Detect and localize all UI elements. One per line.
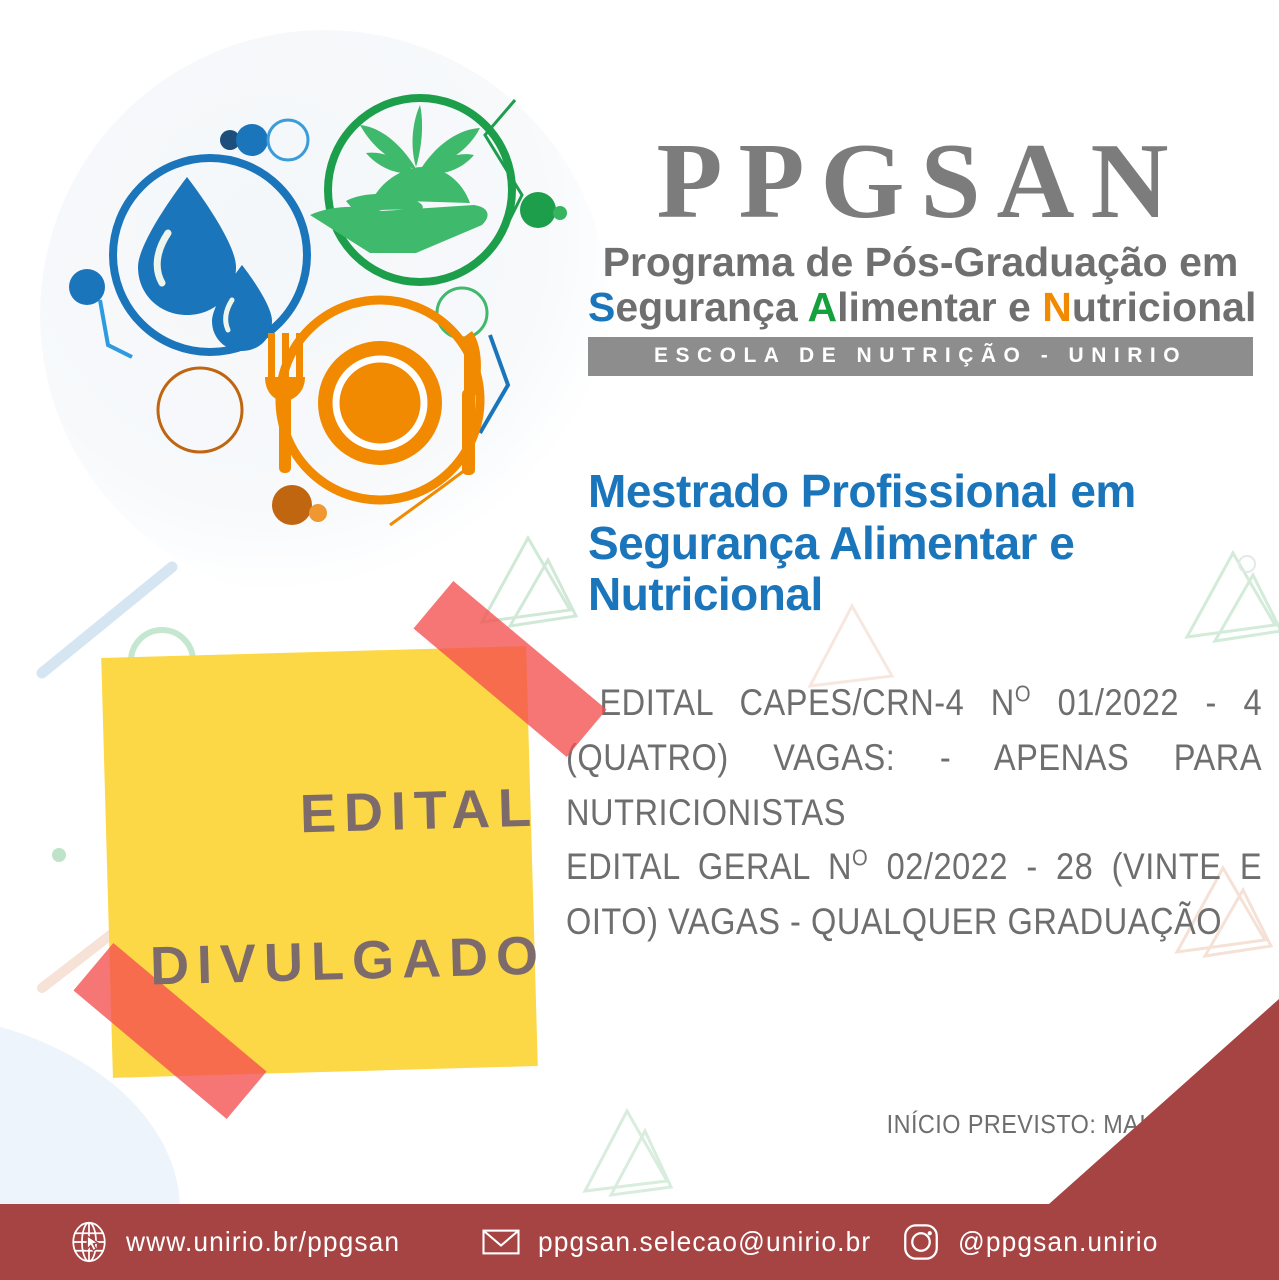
poster-canvas: PPGSAN Programa de Pós-Graduação em Segu… <box>0 0 1279 1280</box>
instagram-icon <box>900 1221 942 1263</box>
edital-paragraph-capes: EDITAL CAPES/CRN-4 NO 01/2022 - 4 (QUATR… <box>566 676 1262 840</box>
course-title: Mestrado Profissional em Segurança Alime… <box>588 466 1278 621</box>
footer-instagram-item[interactable]: @ppgsan.unirio <box>900 1204 1171 1280</box>
footer-email-label: ppgsan.selecao@unirio.br <box>538 1226 871 1258</box>
sticky-note-line1: EDITAL <box>299 777 540 846</box>
brand-acronym: PPGSAN <box>588 128 1253 236</box>
edital-capes-pre: EDITAL CAPES/CRN-4 N <box>599 682 1014 723</box>
sticky-note-line2: DIVULGADO <box>149 924 547 997</box>
brand-letter-a: A <box>808 284 838 330</box>
brand-subtitle-line2: Segurança Alimentar e Nutricional <box>588 285 1253 330</box>
deco-green-dot <box>52 848 66 862</box>
edital-text-block: EDITAL CAPES/CRN-4 NO 01/2022 - 4 (QUATR… <box>566 676 1266 950</box>
brand-word-nutricional: utricional <box>1072 284 1257 330</box>
globe-cursor-icon <box>68 1221 110 1263</box>
footer-instagram-label: @ppgsan.unirio <box>958 1226 1159 1258</box>
footer-bar: www.unirio.br/ppgsan ppgsan.selecao@unir… <box>0 1204 1279 1280</box>
edital-capes-ordinal: O <box>1015 681 1031 707</box>
edital-paragraph-geral: EDITAL GERAL NO 02/2022 - 28 (VINTE E OI… <box>566 840 1262 950</box>
brand-letter-s: S <box>588 284 615 330</box>
brand-subtitle-line1: Programa de Pós-Graduação em <box>588 240 1253 285</box>
plant-in-hand-icon <box>310 98 512 282</box>
edital-geral-pre: EDITAL GERAL N <box>566 846 852 887</box>
footer-website-label: www.unirio.br/ppgsan <box>126 1226 400 1258</box>
edital-geral-ordinal: O <box>852 845 868 871</box>
brand-word-alimentar: limentar e <box>837 284 1042 330</box>
footer-website-item[interactable]: www.unirio.br/ppgsan <box>68 1204 418 1280</box>
sticky-note-group: EDITAL DIVULGADO <box>95 630 565 1100</box>
brand-word-seguranca: egurança <box>615 284 807 330</box>
envelope-icon <box>480 1221 522 1263</box>
brand-header: PPGSAN Programa de Pós-Graduação em Segu… <box>588 128 1253 376</box>
water-drop-icon <box>113 158 307 352</box>
brand-letter-n: N <box>1042 284 1072 330</box>
plate-cutlery-icon <box>265 300 481 500</box>
footer-email-item[interactable]: ppgsan.selecao@unirio.br <box>480 1204 893 1280</box>
footer-corner-wedge <box>1049 999 1279 1204</box>
ppgsan-logo <box>60 55 585 580</box>
school-bar: ESCOLA DE NUTRIÇÃO - UNIRIO <box>588 337 1253 376</box>
